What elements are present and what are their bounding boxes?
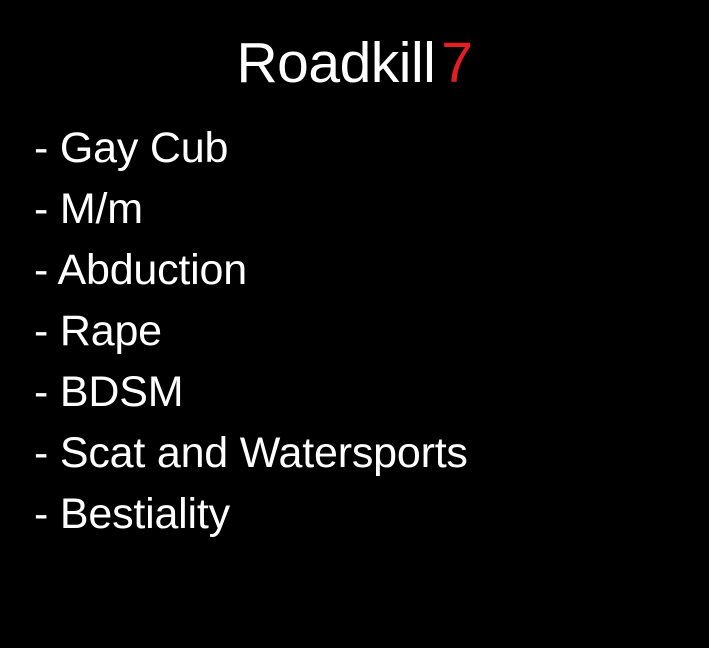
slide-canvas: Roadkill7 - Gay Cub - M/m - Abduction - …: [0, 0, 709, 648]
list-item: - M/m: [34, 179, 694, 240]
list-item-label: Rape: [60, 307, 162, 355]
bullet-marker: -: [34, 185, 48, 233]
list-item-label: Bestiality: [60, 490, 230, 538]
list-item-label: M/m: [60, 185, 143, 233]
list-item: - Gay Cub: [34, 118, 694, 179]
title-number-text: 7: [435, 31, 472, 95]
bullet-marker: -: [34, 368, 48, 416]
list-item: - Abduction: [34, 240, 694, 301]
list-item: - BDSM: [34, 362, 694, 423]
list-item: - Bestiality: [34, 484, 694, 545]
bullet-marker: -: [34, 307, 48, 355]
list-item-label: Abduction: [58, 246, 247, 294]
list-item-label: Scat and Watersports: [60, 429, 468, 477]
bullet-marker: -: [34, 124, 48, 172]
bullet-marker: -: [34, 246, 48, 294]
bullet-marker: -: [34, 490, 48, 538]
title-main-text: Roadkill: [237, 31, 436, 95]
bullet-marker: -: [34, 429, 48, 477]
bullet-list: - Gay Cub - M/m - Abduction - Rape - BDS…: [34, 118, 694, 545]
page-title: Roadkill7: [0, 32, 709, 95]
list-item-label: BDSM: [60, 368, 183, 416]
list-item-label: Gay Cub: [60, 124, 228, 172]
list-item: - Rape: [34, 301, 694, 362]
list-item: - Scat and Watersports: [34, 423, 694, 484]
